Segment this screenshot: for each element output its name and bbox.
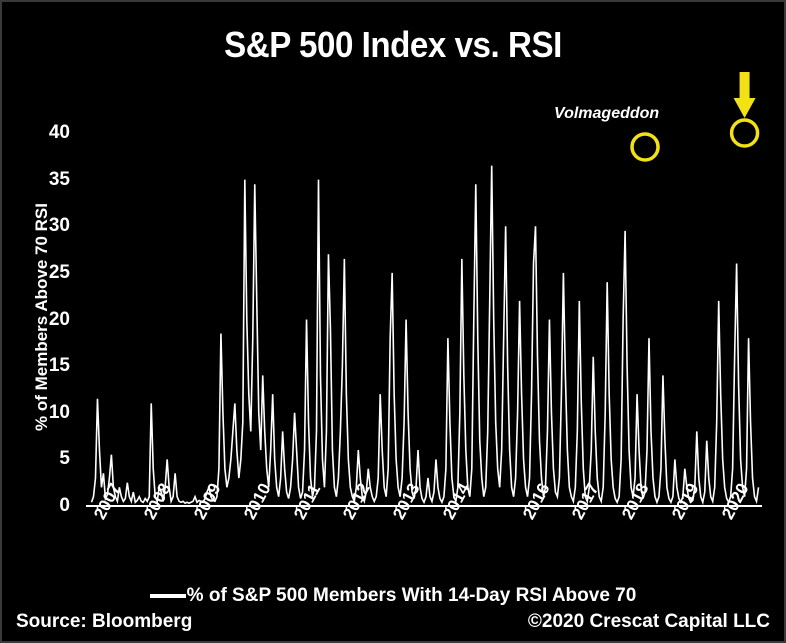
series-group (91, 166, 758, 504)
legend: % of S&P 500 Members With 14-Day RSI Abo… (2, 585, 784, 607)
plot-area (2, 2, 786, 643)
legend-label: % of S&P 500 Members With 14-Day RSI Abo… (187, 585, 637, 606)
footer-copyright: ©2020 Crescat Capital LLC (528, 611, 770, 633)
axes-group (86, 506, 762, 511)
footer-source: Source: Bloomberg (16, 611, 192, 633)
legend-line-swatch (150, 594, 186, 598)
highlight-group (632, 72, 758, 160)
chart-page: S&P 500 Index vs. RSI Volmageddon % of M… (0, 0, 786, 643)
